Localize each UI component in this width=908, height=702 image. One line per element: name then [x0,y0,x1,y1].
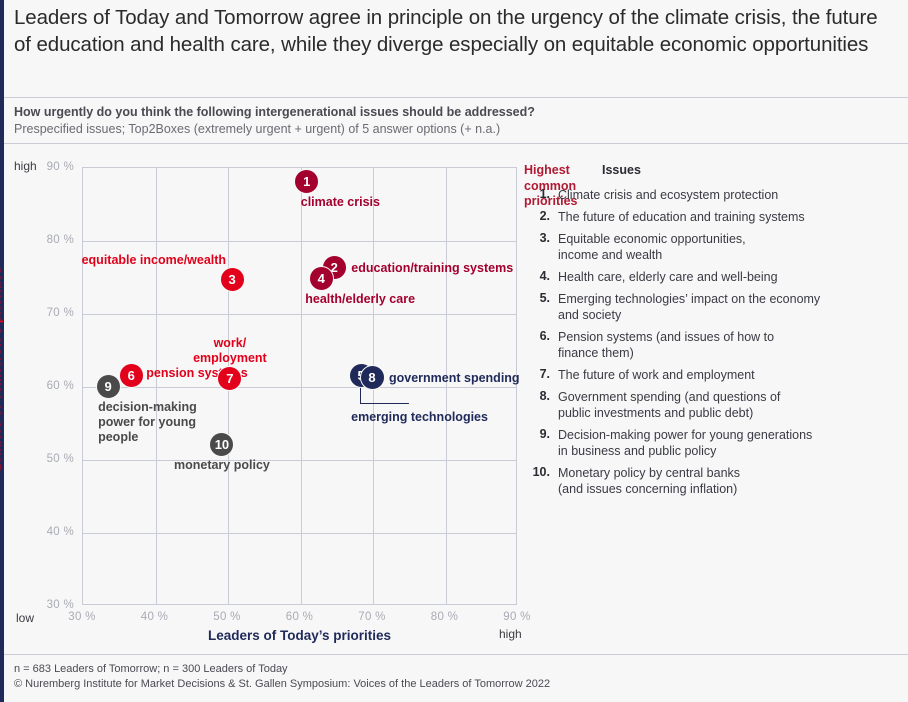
x-axis-tick-label: 30 % [52,611,112,623]
legend-item: 5.Emerging technologies’ impact on the e… [524,291,820,323]
footer-line-1: n = 683 Leaders of Tomorrow; n = 300 Lea… [14,662,550,677]
legend-item: 1.Climate crisis and ecosystem protectio… [524,187,778,203]
x-axis-title: Leaders of Today’s priorities [82,628,517,643]
legend-item-number: 6. [524,329,550,361]
gridline-vertical [301,168,302,604]
legend-item-number: 10. [524,465,550,497]
x-axis-tick-label: 80 % [415,611,475,623]
y-axis-tick-label: 40 % [34,526,74,538]
legend-item-text: Pension systems (and issues of how to fi… [558,329,774,361]
x-axis-tick-label: 70 % [342,611,402,623]
legend-item-number: 9. [524,427,550,459]
data-point-4[interactable]: 4 [309,266,334,291]
legend-item-number: 5. [524,291,550,323]
point-label-8: government spending [389,371,520,386]
legend-item-number: 1. [524,187,550,203]
legend-item-number: 3. [524,231,550,263]
data-point-8[interactable]: 8 [360,365,385,390]
legend-item-text: Government spending (and questions of pu… [558,389,780,421]
legend-item: 2.The future of education and training s… [524,209,805,225]
y-axis-high-label: high [14,159,37,173]
y-axis-tick-label: 60 % [34,380,74,392]
question-bar: How urgently do you think the following … [4,97,908,144]
x-axis-tick-label: 60 % [270,611,330,623]
footer-line-2: © Nuremberg Institute for Market Decisio… [14,677,550,692]
y-axis-tick-label: 50 % [34,453,74,465]
legend-item-number: 7. [524,367,550,383]
point-label-9: decision-making power for young people [98,400,197,445]
data-point-6[interactable]: 6 [119,363,144,388]
footer-divider [4,654,908,655]
data-point-3[interactable]: 3 [220,267,245,292]
legend-item-number: 4. [524,269,550,285]
point-label-7: work/ employment [160,336,300,366]
point-label-1: climate crisis [301,195,380,210]
issues-header: Issues [602,163,641,177]
gridline-horizontal [83,241,516,242]
legend-item: 8.Government spending (and questions of … [524,389,780,421]
question-subline: Prespecified issues; Top2Boxes (extremel… [14,121,908,138]
gridline-horizontal [83,314,516,315]
legend-item-number: 8. [524,389,550,421]
legend-item-text: Decision-making power for young generati… [558,427,812,459]
point-label-2: education/training systems [351,261,513,276]
legend-item: 6.Pension systems (and issues of how to … [524,329,774,361]
legend-item-text: Monetary policy by central banks (and is… [558,465,740,497]
legend-item: 3.Equitable economic opportunities, inco… [524,231,746,263]
data-point-9[interactable]: 9 [96,374,121,399]
y-axis-tick-label: 70 % [34,307,74,319]
y-axis-tick-label: 80 % [34,234,74,246]
gridline-vertical [156,168,157,604]
footer-notes: n = 683 Leaders of Tomorrow; n = 300 Lea… [14,662,550,692]
y-axis-title: Leaders of Tomorrow’s priorities [0,267,4,472]
legend-item: 7.The future of work and employment [524,367,755,383]
point-label-10: monetary policy [152,458,292,473]
x-axis-tick-label: 40 % [125,611,185,623]
legend-item-text: The future of education and training sys… [558,209,805,225]
legend-item-text: Emerging technologies’ impact on the eco… [558,291,820,323]
y-axis-tick-label: 90 % [34,161,74,173]
question-headline: How urgently do you think the following … [14,104,908,121]
point-label-5: emerging technologies [351,410,488,425]
legend-item-text: Health care, elderly care and well-being [558,269,778,285]
y-axis-low-label: low [16,611,34,625]
report-page: Leaders of Today and Tomorrow agree in p… [0,0,908,702]
gridline-horizontal [83,460,516,461]
legend-item-text: Climate crisis and ecosystem protection [558,187,778,203]
x-axis-tick-label: 90 % [487,611,547,623]
legend-item: 10.Monetary policy by central banks (and… [524,465,740,497]
gridline-horizontal [83,387,516,388]
page-title: Leaders of Today and Tomorrow agree in p… [14,4,900,58]
point-label-4: health/elderly care [305,292,415,307]
legend-item: 4.Health care, elderly care and well-bei… [524,269,778,285]
legend-item-text: The future of work and employment [558,367,755,383]
x-axis-tick-label: 50 % [197,611,257,623]
legend-item: 9.Decision-making power for young genera… [524,427,812,459]
point-label-3: equitable income/wealth [82,253,226,268]
legend-item-number: 2. [524,209,550,225]
y-axis-tick-label: 30 % [34,599,74,611]
gridline-horizontal [83,533,516,534]
legend-item-text: Equitable economic opportunities, income… [558,231,746,263]
